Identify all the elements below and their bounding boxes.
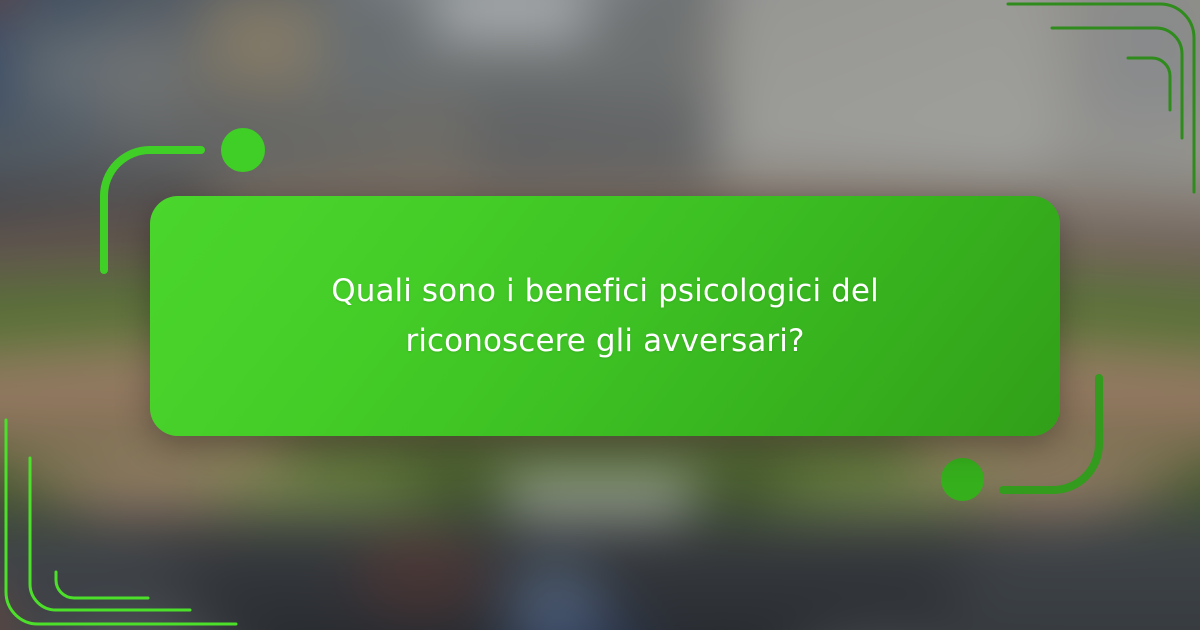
question-card: Quali sono i benefici psicologici del ri… bbox=[150, 196, 1060, 436]
question-title: Quali sono i benefici psicologici del ri… bbox=[285, 266, 925, 366]
social-card-canvas: Quali sono i benefici psicologici del ri… bbox=[0, 0, 1200, 630]
accent-dot-top bbox=[221, 128, 265, 172]
accent-dot-bottom bbox=[941, 458, 984, 501]
